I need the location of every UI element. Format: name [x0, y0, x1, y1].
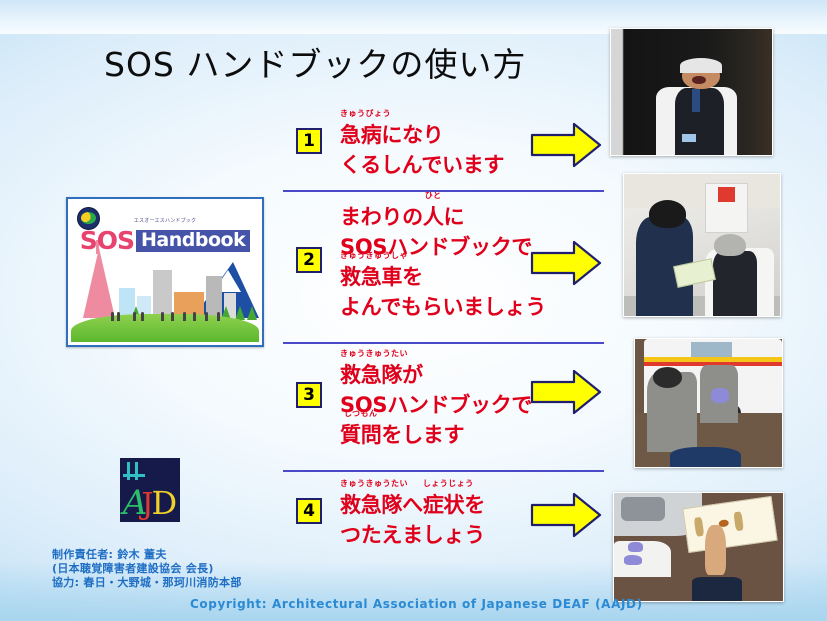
- person-silhouette: [193, 312, 196, 321]
- step-number-badge-1: 1: [296, 128, 322, 154]
- photo-3-paramedic-helmet: [653, 367, 682, 387]
- arrow-icon-4: [530, 492, 602, 538]
- step-1-line-1-rest: になり: [381, 123, 443, 147]
- credits-block: 制作責任者: 鈴木 董夫 (日本聴覚障害者建設協会 会長) 協力: 春日・大野城…: [52, 548, 242, 590]
- photo-2-content: [624, 174, 780, 316]
- ruby-group: きゅうきゅうしゃ救急車: [340, 262, 402, 292]
- step-1-line-2: くるしんでいます: [340, 150, 504, 180]
- ruby-reading: きゅうきゅうたい: [340, 479, 402, 488]
- slide-canvas: SOS ハンドブックの使い方: [0, 0, 827, 621]
- cover-title-lockup: SOSHandbook: [71, 228, 259, 253]
- step-number-badge-4: 4: [296, 498, 322, 524]
- tree-shape: [247, 306, 257, 320]
- ruby-reading: しつもん: [340, 409, 381, 418]
- person-silhouette: [133, 312, 136, 321]
- ruby-base: 急病: [340, 123, 381, 147]
- person-silhouette: [111, 312, 114, 321]
- ruby-reading: ひと: [423, 191, 444, 200]
- logo-letters: AJD: [120, 486, 180, 520]
- logo-grid-bar: [123, 474, 145, 477]
- photo-4-dark-cuff: [692, 577, 743, 601]
- person-silhouette: [171, 312, 174, 321]
- ruby-group: きゅうびょう急病: [340, 120, 381, 150]
- divider-3: [283, 470, 604, 472]
- ruby-reading: きゅうびょう: [340, 109, 381, 118]
- step-4-line-1: きゅうきゅうたい救急隊へしょうじょう症状を: [340, 490, 485, 520]
- divider-2: [283, 342, 604, 344]
- photo-asking-bystander: [623, 173, 781, 317]
- ruby-reading: きゅうきゅうしゃ: [340, 251, 402, 260]
- aajd-logo: AJD: [120, 458, 180, 522]
- ruby-group: きゅうきゅうたい救急隊: [340, 360, 402, 390]
- ruby-reading: きゅうきゅうたい: [340, 349, 402, 358]
- step-3: 3 きゅうきゅうたい救急隊が SOSハンドブックで しつもん質問をします: [296, 352, 546, 452]
- person-silhouette: [117, 312, 120, 321]
- ruby-group: ひと人: [423, 202, 444, 232]
- step-3-text: きゅうきゅうたい救急隊が SOSハンドブックで しつもん質問をします: [340, 360, 532, 450]
- photo-paramedics-ambulance: [634, 338, 783, 468]
- cover-sos-text: SOS: [80, 226, 134, 255]
- photo-3-ambulance-window: [691, 342, 732, 357]
- credits-line-1: 制作責任者: 鈴木 董夫: [52, 548, 242, 562]
- credits-line-3: 協力: 春日・大野城・那珂川消防本部: [52, 576, 242, 590]
- photo-4-pointing-finger: [705, 525, 725, 575]
- step-2: 2 まわりのひと人に SOSハンドブックで きゅうきゅうしゃ救急車を よんでもら…: [296, 200, 546, 330]
- logo-grid-bar: [127, 462, 130, 480]
- photo-4-blue-glove: [624, 555, 641, 565]
- arrow-icon-2: [530, 240, 602, 286]
- photo-pointing-at-handbook: [613, 492, 784, 602]
- ruby-base: 症状: [423, 493, 464, 517]
- step-1-text: きゅうびょう急病になり くるしんでいます: [340, 120, 504, 180]
- photo-2-red-sign: [718, 187, 735, 203]
- ruby-group: しつもん質問: [340, 420, 381, 450]
- cover-grass: [71, 314, 259, 342]
- photo-4-vehicle-window: [621, 497, 665, 521]
- tree-shape: [235, 306, 245, 320]
- tokyo-tower-shape: [83, 248, 115, 318]
- photo-4-content: [614, 493, 783, 601]
- step-4-line-1-mid: へ: [402, 493, 423, 517]
- step-2-line-4: よんでもらいましょう: [340, 292, 546, 322]
- logo-letter-d: D: [151, 484, 177, 522]
- photo-2-wall: [624, 174, 780, 208]
- step-2-line-1-pre: まわりの: [340, 205, 423, 229]
- ruby-base: 救急車: [340, 265, 402, 289]
- step-3-line-3: しつもん質問をします: [340, 420, 532, 450]
- photo-3-blue-glove: [711, 388, 729, 403]
- step-2-line-1-rest: に: [444, 205, 465, 229]
- ruby-reading: しょうじょう: [423, 479, 464, 488]
- photo-2-man-right-head: [714, 234, 745, 257]
- step-4-line-2: つたえましょう: [340, 520, 485, 550]
- cover-kicker-text: エスオーエスハンドブック: [71, 217, 259, 224]
- person-silhouette: [205, 312, 208, 321]
- ruby-group: しょうじょう症状: [423, 490, 464, 520]
- person-silhouette: [217, 312, 220, 321]
- photo-3-patient: [670, 447, 741, 467]
- step-1-line-1: きゅうびょう急病になり: [340, 120, 504, 150]
- person-silhouette: [183, 312, 186, 321]
- copyright-text: Copyright: Architectural Association of …: [190, 597, 643, 611]
- photo-1-tie: [692, 89, 700, 112]
- arrow-icon-3: [530, 369, 602, 415]
- ruby-base: 救急隊: [340, 363, 402, 387]
- page-title: SOS ハンドブックの使い方: [104, 38, 526, 86]
- step-2-line-3-rest: を: [402, 265, 423, 289]
- photo-1-content: [611, 29, 772, 155]
- credits-line-2: (日本聴覚障害者建設協会 会長): [52, 562, 242, 576]
- cover-handbook-text: Handbook: [136, 230, 250, 252]
- photo-1-hair: [680, 58, 722, 73]
- step-2-line-3: きゅうきゅうしゃ救急車を: [340, 262, 546, 292]
- photo-man-in-pain: [610, 28, 773, 156]
- step-4: 4 きゅうきゅうたい救急隊へしょうじょう症状を つたえましょう: [296, 482, 546, 552]
- person-silhouette: [141, 312, 144, 321]
- ruby-group: きゅうきゅうたい救急隊: [340, 490, 402, 520]
- photo-1-badge: [682, 134, 696, 143]
- step-3-line-3-rest: をします: [381, 423, 464, 447]
- step-3-line-1: きゅうきゅうたい救急隊が: [340, 360, 532, 390]
- photo-4-body-figure: [733, 510, 744, 531]
- logo-grid-bar: [135, 462, 138, 480]
- photo-4-white-sleeve: [614, 541, 671, 578]
- step-number-badge-3: 3: [296, 382, 322, 408]
- step-3-line-1-rest: が: [402, 363, 423, 387]
- ruby-base: 救急隊: [340, 493, 402, 517]
- photo-2-man-right-vest: [713, 251, 757, 316]
- step-number-badge-2: 2: [296, 247, 322, 273]
- building-shape: [153, 270, 172, 318]
- step-4-line-1-end: を: [464, 493, 485, 517]
- photo-2-man-left-head: [649, 200, 686, 228]
- ruby-base: 人: [423, 205, 444, 229]
- photo-4-blue-glove: [628, 542, 643, 552]
- step-2-line-1: まわりのひと人に: [340, 202, 546, 232]
- step-2-text: まわりのひと人に SOSハンドブックで きゅうきゅうしゃ救急車を よんでもらいま…: [340, 202, 546, 322]
- person-silhouette: [161, 312, 164, 321]
- arrow-icon-1: [530, 122, 602, 168]
- handbook-cover-art: エスオーエスハンドブック SOSHandbook: [71, 202, 259, 342]
- step-4-text: きゅうきゅうたい救急隊へしょうじょう症状を つたえましょう: [340, 490, 485, 550]
- step-1: 1 きゅうびょう急病になり くるしんでいます: [296, 112, 526, 182]
- ruby-base: 質問: [340, 423, 381, 447]
- handbook-cover-image: エスオーエスハンドブック SOSHandbook: [66, 197, 264, 347]
- photo-4-body-figure: [693, 516, 704, 537]
- photo-3-content: [635, 339, 782, 467]
